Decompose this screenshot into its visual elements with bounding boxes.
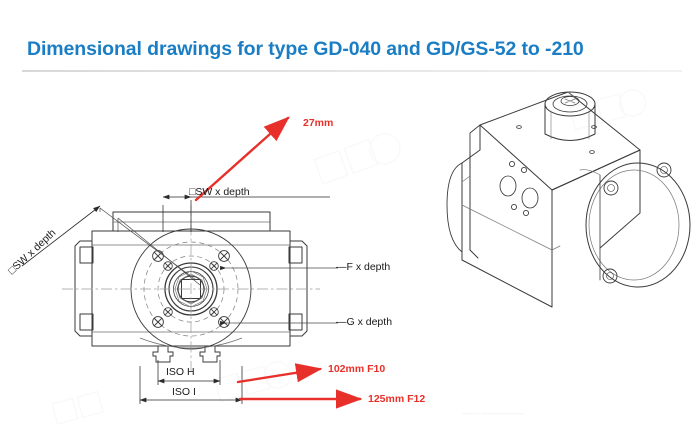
screenshot-root: Dimensional drawings for type GD-040 and… xyxy=(0,0,700,445)
label-f-depth: —F x depth xyxy=(336,261,390,273)
annotation-27mm: 27mm xyxy=(303,117,333,129)
annotation-102mm-f10: 102mm F10 xyxy=(328,363,385,375)
annotation-125mm-f12: 125mm F12 xyxy=(368,393,425,405)
footer-faint-text: —— ————— xyxy=(462,408,524,418)
label-sw-depth-top: □SW x depth xyxy=(189,186,250,198)
label-g-depth: —G x depth xyxy=(336,316,392,328)
actuator-3d-render xyxy=(0,0,700,445)
label-iso-i: ISO I xyxy=(172,386,196,398)
label-iso-h: ISO H xyxy=(166,366,195,378)
